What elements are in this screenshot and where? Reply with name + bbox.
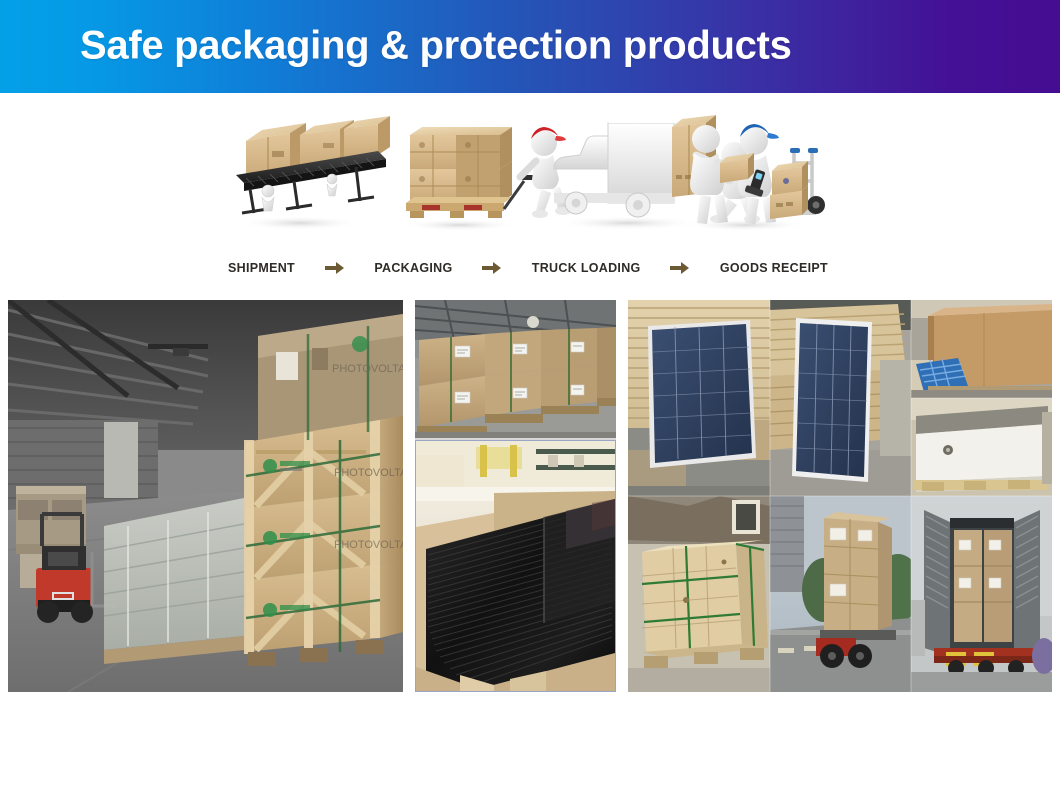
svg-text:PHOTOVOLTAIC: PHOTOVOLTAIC	[334, 467, 403, 479]
collage-carton-box-photo	[911, 300, 1052, 398]
warehouse-crates-photo: Warehouse aisle with stacked wooden crat…	[8, 300, 403, 692]
process-step-packaging: PACKAGING	[374, 259, 452, 277]
packaging-collage	[628, 300, 1052, 692]
collage-mono-panel-b-photo	[770, 300, 911, 496]
conveyor-boxes-icon	[236, 116, 390, 230]
middle-photo-column: Strapped cardboard cartons stacked on pa…	[415, 300, 616, 692]
process-infographic: SHIPMENT PACKAGING TRUCK LOADING GOODS R…	[0, 93, 1060, 300]
process-step-shipment: SHIPMENT	[228, 259, 295, 277]
process-illustration	[228, 105, 828, 233]
collage-corner-protection-photo	[911, 398, 1052, 496]
process-step-label: GOODS RECEIPT	[720, 261, 828, 275]
svg-text:PHOTOVOLTAIC: PHOTOVOLTAIC	[334, 539, 403, 551]
process-step-labels: SHIPMENT PACKAGING TRUCK LOADING GOODS R…	[228, 257, 828, 279]
arrow-right-icon	[670, 261, 690, 275]
collage-mono-panel-a-photo	[628, 300, 770, 496]
svg-text:PHOTOVOLTAIC: PHOTOVOLTAIC	[332, 363, 403, 375]
carton-pallets-photo: Strapped cardboard cartons stacked on pa…	[415, 300, 616, 438]
collage-wooden-crate-photo	[628, 496, 770, 692]
pallet-jack-worker-icon	[402, 127, 571, 231]
process-step-label: TRUCK LOADING	[532, 261, 641, 275]
page-title: Safe packaging & protection products	[80, 23, 792, 68]
collage-container-loading-photo	[911, 496, 1052, 692]
process-step-goods-receipt: GOODS RECEIPT	[720, 259, 828, 277]
arrow-right-icon	[325, 261, 345, 275]
process-step-label: SHIPMENT	[228, 261, 295, 275]
header-bar: Safe packaging & protection products	[0, 0, 1060, 93]
process-step-truck-loading: TRUCK LOADING	[532, 259, 641, 277]
photo-gallery: Warehouse aisle with stacked wooden crat…	[8, 300, 1052, 692]
collage-truck-loaded-photo	[770, 496, 922, 692]
goods-receipt-icon	[684, 124, 825, 231]
arrow-right-icon	[482, 261, 502, 275]
black-modules-photo: Stack of full-black solar modules restin…	[415, 440, 616, 692]
process-step-label: PACKAGING	[374, 261, 452, 275]
